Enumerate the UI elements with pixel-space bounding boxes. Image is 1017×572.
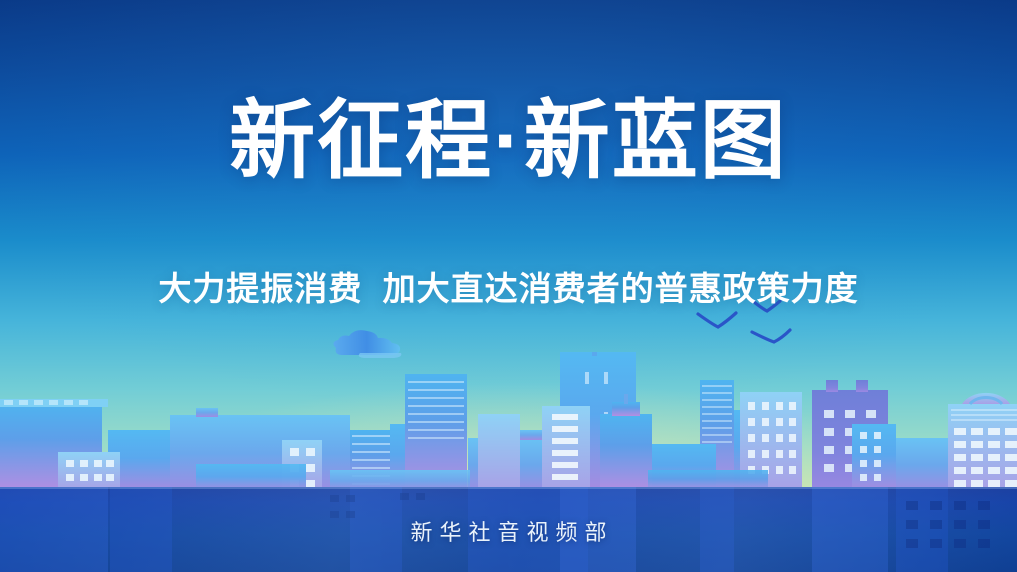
- title-card: 新征程·新蓝图 大力提振消费 加大直达消费者的普惠政策力度 新华社音视频部: [0, 0, 1017, 572]
- subtitle: 大力提振消费 加大直达消费者的普惠政策力度: [0, 262, 1017, 310]
- page-title: 新征程·新蓝图: [0, 96, 1017, 186]
- city-skyline-silhouette: [0, 352, 1017, 492]
- credit-line: 新华社音视频部: [0, 515, 1017, 547]
- title-block: 新征程·新蓝图: [0, 96, 1017, 186]
